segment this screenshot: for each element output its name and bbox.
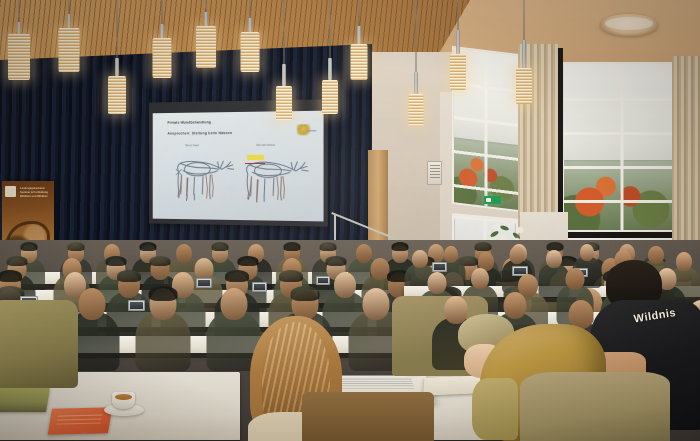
lamp-stem (456, 30, 460, 54)
banner-logo-icon (5, 186, 16, 197)
attendee-cap (105, 256, 126, 266)
lamp-cord (330, 0, 331, 58)
slide-caption-right: Reh nach Schuss (257, 145, 275, 147)
lamp-stem (282, 64, 286, 86)
attendee-cap (475, 242, 492, 251)
pendant-lamp-4 (152, 0, 171, 78)
attendee-head (546, 250, 562, 268)
lamp-shade (450, 54, 466, 90)
lamp-cord (206, 0, 207, 12)
lamp-cord (19, 0, 20, 22)
lecture-hall-scene: Private Wundbehandlung Ansprechen: Stell… (0, 0, 700, 441)
attendee-cap (0, 270, 22, 282)
lamp-shade (408, 94, 423, 126)
lamp-shade (516, 68, 532, 104)
pendant-lamp-1 (8, 0, 30, 80)
wall-control-panel[interactable] (427, 161, 442, 185)
pendant-lamp-5 (196, 0, 216, 68)
laptop-4[interactable] (432, 262, 447, 272)
banner-title: Landes­jagdverband Seminar & Fortbildung… (20, 187, 52, 199)
attendee-head (444, 246, 458, 263)
slide-title: Private Wundbehandlung (167, 121, 211, 125)
lamp-stem (160, 24, 164, 38)
pendant-lamp-12 (516, 0, 532, 104)
attendee-cap (279, 270, 303, 282)
slide-subtitle: Ansprechen: Stellung beim Nässen (167, 131, 232, 136)
coffee-cup (112, 392, 135, 409)
pendant-lamp-3 (108, 0, 126, 114)
pendant-lamp-7 (276, 0, 292, 120)
attendee-cap (225, 270, 249, 282)
laptop-1[interactable] (196, 278, 212, 288)
laptop-2[interactable] (252, 282, 267, 292)
laptop-8[interactable] (128, 300, 145, 311)
pendant-lamp-10 (408, 0, 423, 126)
lamp-cord (117, 0, 118, 58)
chair-foreground-right (520, 372, 670, 441)
attendee-cap (320, 242, 337, 251)
lamp-shade (240, 32, 259, 72)
pendant-lamp-2 (58, 0, 79, 72)
lamp-stem (204, 12, 208, 26)
pendant-lamp-11 (450, 0, 466, 90)
lamp-stem (414, 72, 418, 94)
lamp-stem (248, 18, 252, 32)
attendee-head (78, 288, 105, 320)
lamp-cord (458, 0, 459, 30)
lamp-stem (328, 58, 332, 80)
lamp-stem (67, 14, 71, 28)
lamp-cord (415, 0, 416, 72)
lamp-cord (524, 0, 525, 40)
lamp-shade (196, 26, 216, 68)
lamp-cord (68, 0, 69, 14)
orange-flyer (48, 407, 113, 435)
deer-sketch-left-icon (166, 153, 238, 205)
attendee-head (362, 288, 389, 320)
attendee-cap (149, 256, 170, 266)
lamp-shade (58, 28, 79, 72)
exit-sign-icon (484, 196, 501, 204)
chair-foreground-left (0, 300, 78, 388)
attendee-torso (135, 312, 190, 371)
projection-screen: Private Wundbehandlung Ansprechen: Stell… (149, 99, 328, 226)
attendee-cap (325, 256, 346, 266)
attendee-cap (212, 242, 229, 251)
attendee-cap (117, 270, 141, 282)
attendee-head (428, 272, 447, 294)
lamp-shade (108, 76, 126, 114)
attendee-cap (140, 242, 157, 251)
ceiling-light-icon (600, 14, 658, 36)
lamp-shade (276, 86, 292, 120)
lamp-shade (322, 80, 338, 114)
attendee-cap (148, 286, 177, 301)
chair-foreground-bottom (302, 392, 434, 441)
attendee-head (471, 268, 489, 289)
attendee-head (510, 246, 525, 264)
lamp-shade (350, 44, 367, 80)
attendee-cap (237, 256, 258, 266)
attendee-cap (6, 256, 27, 266)
pendant-lamp-8 (322, 0, 338, 114)
attendee-head (412, 250, 428, 268)
slide-surface: Private Wundbehandlung Ansprechen: Stell… (153, 111, 324, 222)
attendee-cap (284, 242, 301, 251)
lamp-stem (357, 26, 361, 44)
laptop-3[interactable] (316, 276, 330, 285)
lamp-stem (522, 40, 526, 68)
attendee-cap (21, 242, 38, 251)
lamp-cord (249, 0, 250, 18)
attendee-cap (68, 242, 85, 251)
lamp-stem (115, 58, 119, 76)
window-panes (564, 64, 680, 230)
lamp-cord (161, 0, 162, 24)
lamp-cord (358, 0, 359, 26)
attendee-head (580, 244, 594, 261)
slide-highlight-marker (247, 155, 264, 160)
green-notebook (0, 388, 50, 412)
lamp-shade (152, 38, 171, 78)
pendant-lamp-6 (240, 0, 259, 72)
lamp-stem (17, 22, 21, 34)
window-upper-right (562, 62, 682, 232)
slide-logo-icon (296, 124, 313, 135)
deer-sketch-right-icon (236, 153, 311, 206)
lamp-shade (8, 34, 30, 80)
attendee-head (565, 268, 584, 290)
pendant-lamp-9 (350, 0, 367, 80)
lamp-cord (284, 0, 285, 64)
slide-caption-left: Reh im Stand (186, 146, 199, 148)
slide-pointer-line (245, 163, 265, 164)
attendee-cap (290, 286, 319, 301)
